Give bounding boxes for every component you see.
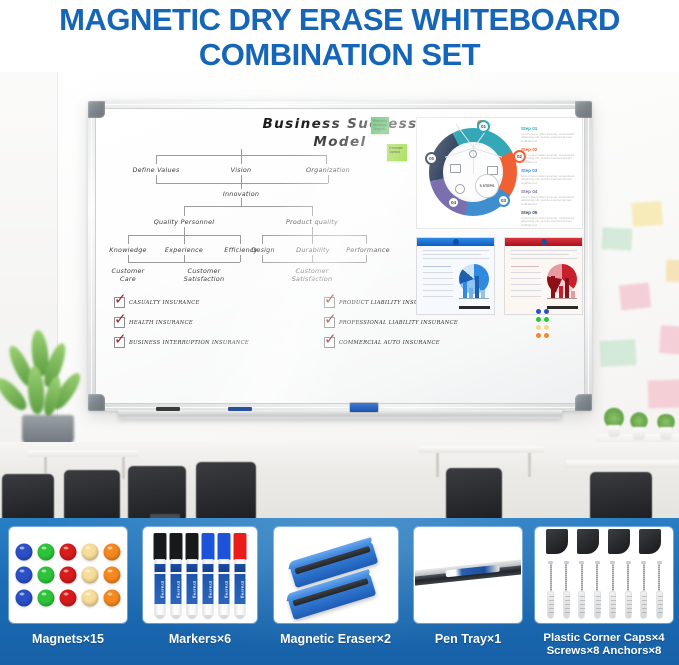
magnet-disc: [104, 567, 121, 584]
magnet-disc: [38, 590, 55, 607]
marker-band: [155, 564, 166, 572]
accessory-card-magnets[interactable]: Magnets×15: [0, 518, 136, 665]
board-pen-tray: [118, 410, 562, 419]
donut-hole: 5 STEPS: [443, 142, 503, 202]
hardware-label-line2: Screws×8 Anchors×8: [529, 645, 679, 658]
node-customer-care: CustomerCare: [111, 267, 144, 283]
node-customer-satisfaction-right: CustomerSatisfaction: [292, 267, 333, 283]
magnet-disc: [38, 544, 55, 561]
title-line-2: COMBINATION SET: [0, 38, 679, 72]
magnet-disc: [16, 567, 33, 584]
accessories-strip: Magnets×15 ErasingErasingErasingErasingE…: [0, 518, 679, 665]
marker-cap: [202, 533, 215, 560]
marker-tip: [237, 615, 244, 619]
step-heading: Step 04: [521, 189, 581, 194]
magnet-disc: [60, 590, 77, 607]
marker-pen: Erasing: [218, 533, 231, 617]
step-badge-04: 04: [447, 196, 460, 209]
checklist-item: ✓PROFESSIONAL LIABILITY INSURANCE: [324, 317, 458, 328]
magnet-disc: [104, 544, 121, 561]
node-vision: Vision: [231, 166, 252, 174]
step-row: Step 01Lorem ipsum dolor sit amet, conse…: [521, 126, 581, 144]
desk-leg: [122, 457, 125, 479]
magnet-disc: [16, 544, 33, 561]
step-body-text: Lorem ipsum dolor sit amet, consectetur …: [521, 217, 581, 228]
checklist-item-label: COMMERCIAL AUTO INSURANCE: [339, 340, 440, 346]
corner-cap-part: [639, 529, 661, 554]
corner-cap-part: [577, 529, 599, 554]
screw-part: [579, 561, 584, 591]
node-experience: Experience: [165, 246, 203, 254]
checkbox-icon: ✓: [324, 297, 335, 308]
accessory-card-eraser[interactable]: Magnetic Eraser×2: [264, 518, 407, 665]
checklist-item: ✓COMMERCIAL AUTO INSURANCE: [324, 337, 440, 348]
marker-tip: [189, 615, 196, 619]
node-durability: Durability: [296, 246, 330, 254]
checkbox-icon: ✓: [324, 317, 335, 328]
marker-tip: [173, 615, 180, 619]
marker-band: [171, 564, 182, 572]
corner-cap-bottom-left: [88, 394, 105, 411]
desk-1: [28, 450, 138, 457]
hardware-label-line1: Plastic Corner Caps×4: [529, 632, 679, 645]
tray-marker: [228, 407, 252, 411]
product-image: MAGNETIC DRY ERASE WHITEBOARD COMBINATIO…: [0, 0, 679, 665]
marker-pen: Erasing: [154, 533, 167, 617]
step-row: Step 05Lorem ipsum dolor sit amet, conse…: [521, 210, 581, 228]
corner-cap-part: [546, 529, 568, 554]
board-magnet: [544, 309, 549, 314]
corner-cap-bottom-right: [575, 394, 592, 411]
board-magnet: [536, 317, 541, 322]
magnet-disc: [38, 567, 55, 584]
corner-cap-top-right: [575, 101, 592, 118]
anchor-part: [609, 591, 616, 619]
wall-sticky-note: [601, 227, 632, 251]
magnets-label: Magnets×15: [0, 632, 136, 646]
node-customer-satisfaction-left: CustomerSatisfaction: [184, 267, 225, 283]
step-body-text: Lorem ipsum dolor sit amet, consectetur …: [521, 133, 581, 144]
checklist-item: ✓CASUALTY INSURANCE: [114, 297, 200, 308]
checklist-item-label: PROFESSIONAL LIABILITY INSURANCE: [339, 320, 458, 326]
accessory-card-hardware[interactable]: Plastic Corner Caps×4 Screws×8 Anchors×8: [529, 518, 679, 665]
screw-part: [564, 561, 569, 591]
node-organization: Organization: [306, 166, 350, 174]
checklist-item: ✓BUSINESS INTERRUPTION INSURANCE: [114, 337, 249, 348]
marker-cap: [218, 533, 231, 560]
tray-eraser: [349, 402, 379, 413]
checkbox-icon: ✓: [114, 317, 125, 328]
checkbox-icon: ✓: [114, 297, 125, 308]
corner-cap-top-left: [88, 101, 105, 118]
chair-6: [590, 472, 652, 520]
title-line-1: MAGNETIC DRY ERASE WHITEBOARD: [0, 0, 679, 38]
poster-knob: [453, 239, 459, 245]
desk-leg: [436, 453, 439, 477]
desk-3: [566, 460, 679, 468]
board-magnet: [536, 309, 541, 314]
board-magnet: [536, 325, 541, 330]
anchor-part: [625, 591, 632, 619]
chair-1: [2, 474, 54, 520]
step-body-text: Lorem ipsum dolor sit amet, consectetur …: [521, 154, 581, 165]
screw-part: [626, 561, 631, 591]
marker-band: [187, 564, 198, 572]
marker-brand-label: Erasing: [235, 574, 246, 604]
step-badge-03: 03: [497, 194, 510, 207]
anchor-part: [640, 591, 647, 619]
step-row: Step 04Lorem ipsum dolor sit amet, conse…: [521, 189, 581, 207]
marker-brand-label: Erasing: [203, 574, 214, 604]
marker-brand-label: Erasing: [219, 574, 230, 604]
magnet-disc: [82, 544, 99, 561]
marker-pen: Erasing: [234, 533, 247, 617]
marker-cap: [186, 533, 199, 560]
anchor-part: [563, 591, 570, 619]
hardware-frame: [535, 527, 673, 623]
board-sticky-note-2: Concept Option: [387, 144, 407, 161]
anchor-part: [547, 591, 554, 619]
board-magnet: [536, 333, 541, 338]
screw-part: [548, 561, 553, 591]
checklist-item-label: CASUALTY INSURANCE: [129, 300, 200, 306]
node-define-values: Define Values: [132, 166, 179, 174]
whiteboard: Business Success Model Define Values Vis…: [88, 101, 592, 411]
wall-sticky-note: [599, 339, 636, 367]
marker-brand-label: Erasing: [187, 574, 198, 604]
node-innovation: Innovation: [223, 190, 259, 198]
pentray-frame: [414, 527, 522, 623]
checkbox-icon: ✓: [114, 337, 125, 348]
magnets-frame: [9, 527, 127, 623]
step-badge-05: 05: [425, 152, 438, 165]
accessory-card-markers[interactable]: ErasingErasingErasingErasingErasingErasi…: [136, 518, 264, 665]
checkbox-icon: ✓: [324, 337, 335, 348]
eraser-frame: [274, 527, 398, 623]
whiteboard-surface: Business Success Model Define Values Vis…: [95, 108, 585, 404]
chart-poster-red: [504, 237, 583, 315]
floor-plant: [2, 330, 88, 445]
node-product-quality: Product quality: [286, 218, 338, 226]
magnet-disc: [82, 590, 99, 607]
magnet-disc: [16, 590, 33, 607]
marker-pen: Erasing: [170, 533, 183, 617]
step-row: Step 03Lorem ipsum dolor sit amet, conse…: [521, 168, 581, 186]
marker-cap: [154, 533, 167, 560]
desk-2: [418, 446, 544, 453]
anchor-part: [594, 591, 601, 619]
step-badge-01: 01: [477, 120, 490, 133]
magnet-disc: [82, 567, 99, 584]
marker-brand-label: Erasing: [171, 574, 182, 604]
tray-marker: [156, 407, 180, 411]
step-body-text: Lorem ipsum dolor sit amet, consectetur …: [521, 175, 581, 186]
poster-knob: [541, 239, 547, 245]
marker-pen: Erasing: [186, 533, 199, 617]
chair-5: [446, 468, 502, 520]
step-heading: Step 05: [521, 210, 581, 215]
screw-part: [610, 561, 615, 591]
anchor-part: [656, 591, 663, 619]
magnet-disc: [104, 590, 121, 607]
step-heading: Step 03: [521, 168, 581, 173]
marker-tip: [157, 615, 164, 619]
chart-poster-blue: [416, 237, 495, 315]
magnet-disc: [60, 544, 77, 561]
step-heading: Step 01: [521, 126, 581, 131]
checklist-item-label: HEALTH INSURANCE: [129, 320, 193, 326]
step-row: Step 02Lorem ipsum dolor sit amet, conse…: [521, 147, 581, 165]
wall-sticky-note: [666, 260, 679, 283]
board-magnet: [544, 325, 549, 330]
hardware-parts: [540, 529, 668, 621]
accessory-cards: Magnets×15 ErasingErasingErasingErasingE…: [0, 518, 679, 665]
marker-tip: [205, 615, 212, 619]
wall-sticky-note: [659, 325, 679, 355]
screw-part: [595, 561, 600, 591]
wall-sticky-note: [631, 201, 663, 227]
marker-tip: [221, 615, 228, 619]
screw-part: [641, 561, 646, 591]
board-sticky-note-1: Planning Strategy Targets: [371, 117, 389, 134]
node-performance: Performance: [346, 246, 390, 254]
anchor-part: [578, 591, 585, 619]
chair-2: [64, 470, 120, 520]
markers-label: Markers×6: [136, 632, 264, 646]
pen-tray-product: [414, 556, 522, 594]
checklist-item-label: BUSINESS INTERRUPTION INSURANCE: [129, 340, 249, 346]
magnet-disc: [60, 567, 77, 584]
marker-pen: Erasing: [202, 533, 215, 617]
chair-4: [196, 462, 256, 520]
node-design: Design: [251, 246, 275, 254]
marker-band: [203, 564, 214, 572]
checklist-item: ✓HEALTH INSURANCE: [114, 317, 193, 328]
node-quality-personnel: Quality Personnel: [154, 218, 215, 226]
marker-cap: [234, 533, 247, 560]
screw-part: [657, 561, 662, 591]
corner-cap-part: [608, 529, 630, 554]
marker-band: [235, 564, 246, 572]
accessory-card-pentray[interactable]: Pen Tray×1: [407, 518, 529, 665]
markers-frame: ErasingErasingErasingErasingErasingErasi…: [143, 527, 257, 623]
desk-leg: [528, 453, 531, 477]
circle-infographic-poster: 5 STEPS 0102030405 Step 01Lorem ipsum do…: [416, 117, 583, 229]
wall-sticky-note: [619, 283, 651, 311]
pentray-label: Pen Tray×1: [407, 632, 529, 646]
step-body-text: Lorem ipsum dolor sit amet, consectetur …: [521, 196, 581, 207]
magnet-grid: [16, 544, 121, 607]
eraser-label: Magnetic Eraser×2: [264, 632, 407, 646]
marker-cap: [170, 533, 183, 560]
step-heading: Step 02: [521, 147, 581, 152]
office-scene: Business Success Model Define Values Vis…: [0, 62, 679, 520]
marker-row: ErasingErasingErasingErasingErasingErasi…: [154, 533, 247, 617]
floor-area: [0, 442, 679, 520]
board-magnet: [544, 333, 549, 338]
product-title: MAGNETIC DRY ERASE WHITEBOARD COMBINATIO…: [0, 0, 679, 72]
donut-center-label: 5 STEPS: [475, 174, 499, 198]
node-knowledge: Knowledge: [109, 246, 146, 254]
chair-3: [128, 466, 186, 520]
marker-band: [219, 564, 230, 572]
wall-sticky-note: [648, 379, 679, 408]
board-magnet: [544, 317, 549, 322]
marker-brand-label: Erasing: [155, 574, 166, 604]
